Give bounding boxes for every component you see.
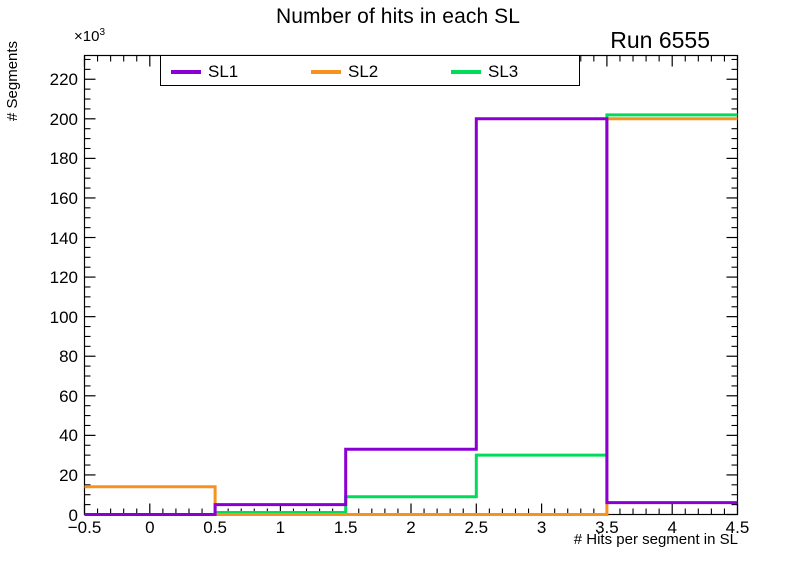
legend-label: SL3 <box>488 62 518 81</box>
legend-swatch-icon <box>171 70 201 74</box>
y-axis-tick-label: 100 <box>28 309 78 326</box>
y-axis-tick-label: 120 <box>28 269 78 286</box>
legend-item-sl3[interactable]: SL3 <box>451 56 518 87</box>
y-axis-tick-label: 180 <box>28 150 78 167</box>
legend-swatch-icon <box>311 70 341 74</box>
x-axis-tick-label: 4.5 <box>698 518 778 537</box>
y-axis-tick-label: 160 <box>28 190 78 207</box>
legend-item-sl1[interactable]: SL1 <box>171 56 238 87</box>
y-axis-tick-label: 60 <box>28 388 78 405</box>
y-axis-tick-label: 140 <box>28 230 78 247</box>
series-line-sl2 <box>85 119 738 515</box>
legend: SL1SL2SL3 <box>160 55 580 86</box>
legend-label: SL2 <box>348 62 378 81</box>
y-axis-tick-label: 80 <box>28 348 78 365</box>
y-axis-tick-label: 200 <box>28 111 78 128</box>
y-axis-tick-label: 40 <box>28 427 78 444</box>
legend-item-sl2[interactable]: SL2 <box>311 56 378 87</box>
y-axis-tick-label: 20 <box>28 467 78 484</box>
y-axis-tick-label: 220 <box>28 71 78 88</box>
legend-swatch-icon <box>451 70 481 74</box>
series-line-sl3 <box>85 115 738 515</box>
plot-frame <box>85 56 738 515</box>
legend-label: SL1 <box>208 62 238 81</box>
series-line-sl1 <box>85 119 738 515</box>
